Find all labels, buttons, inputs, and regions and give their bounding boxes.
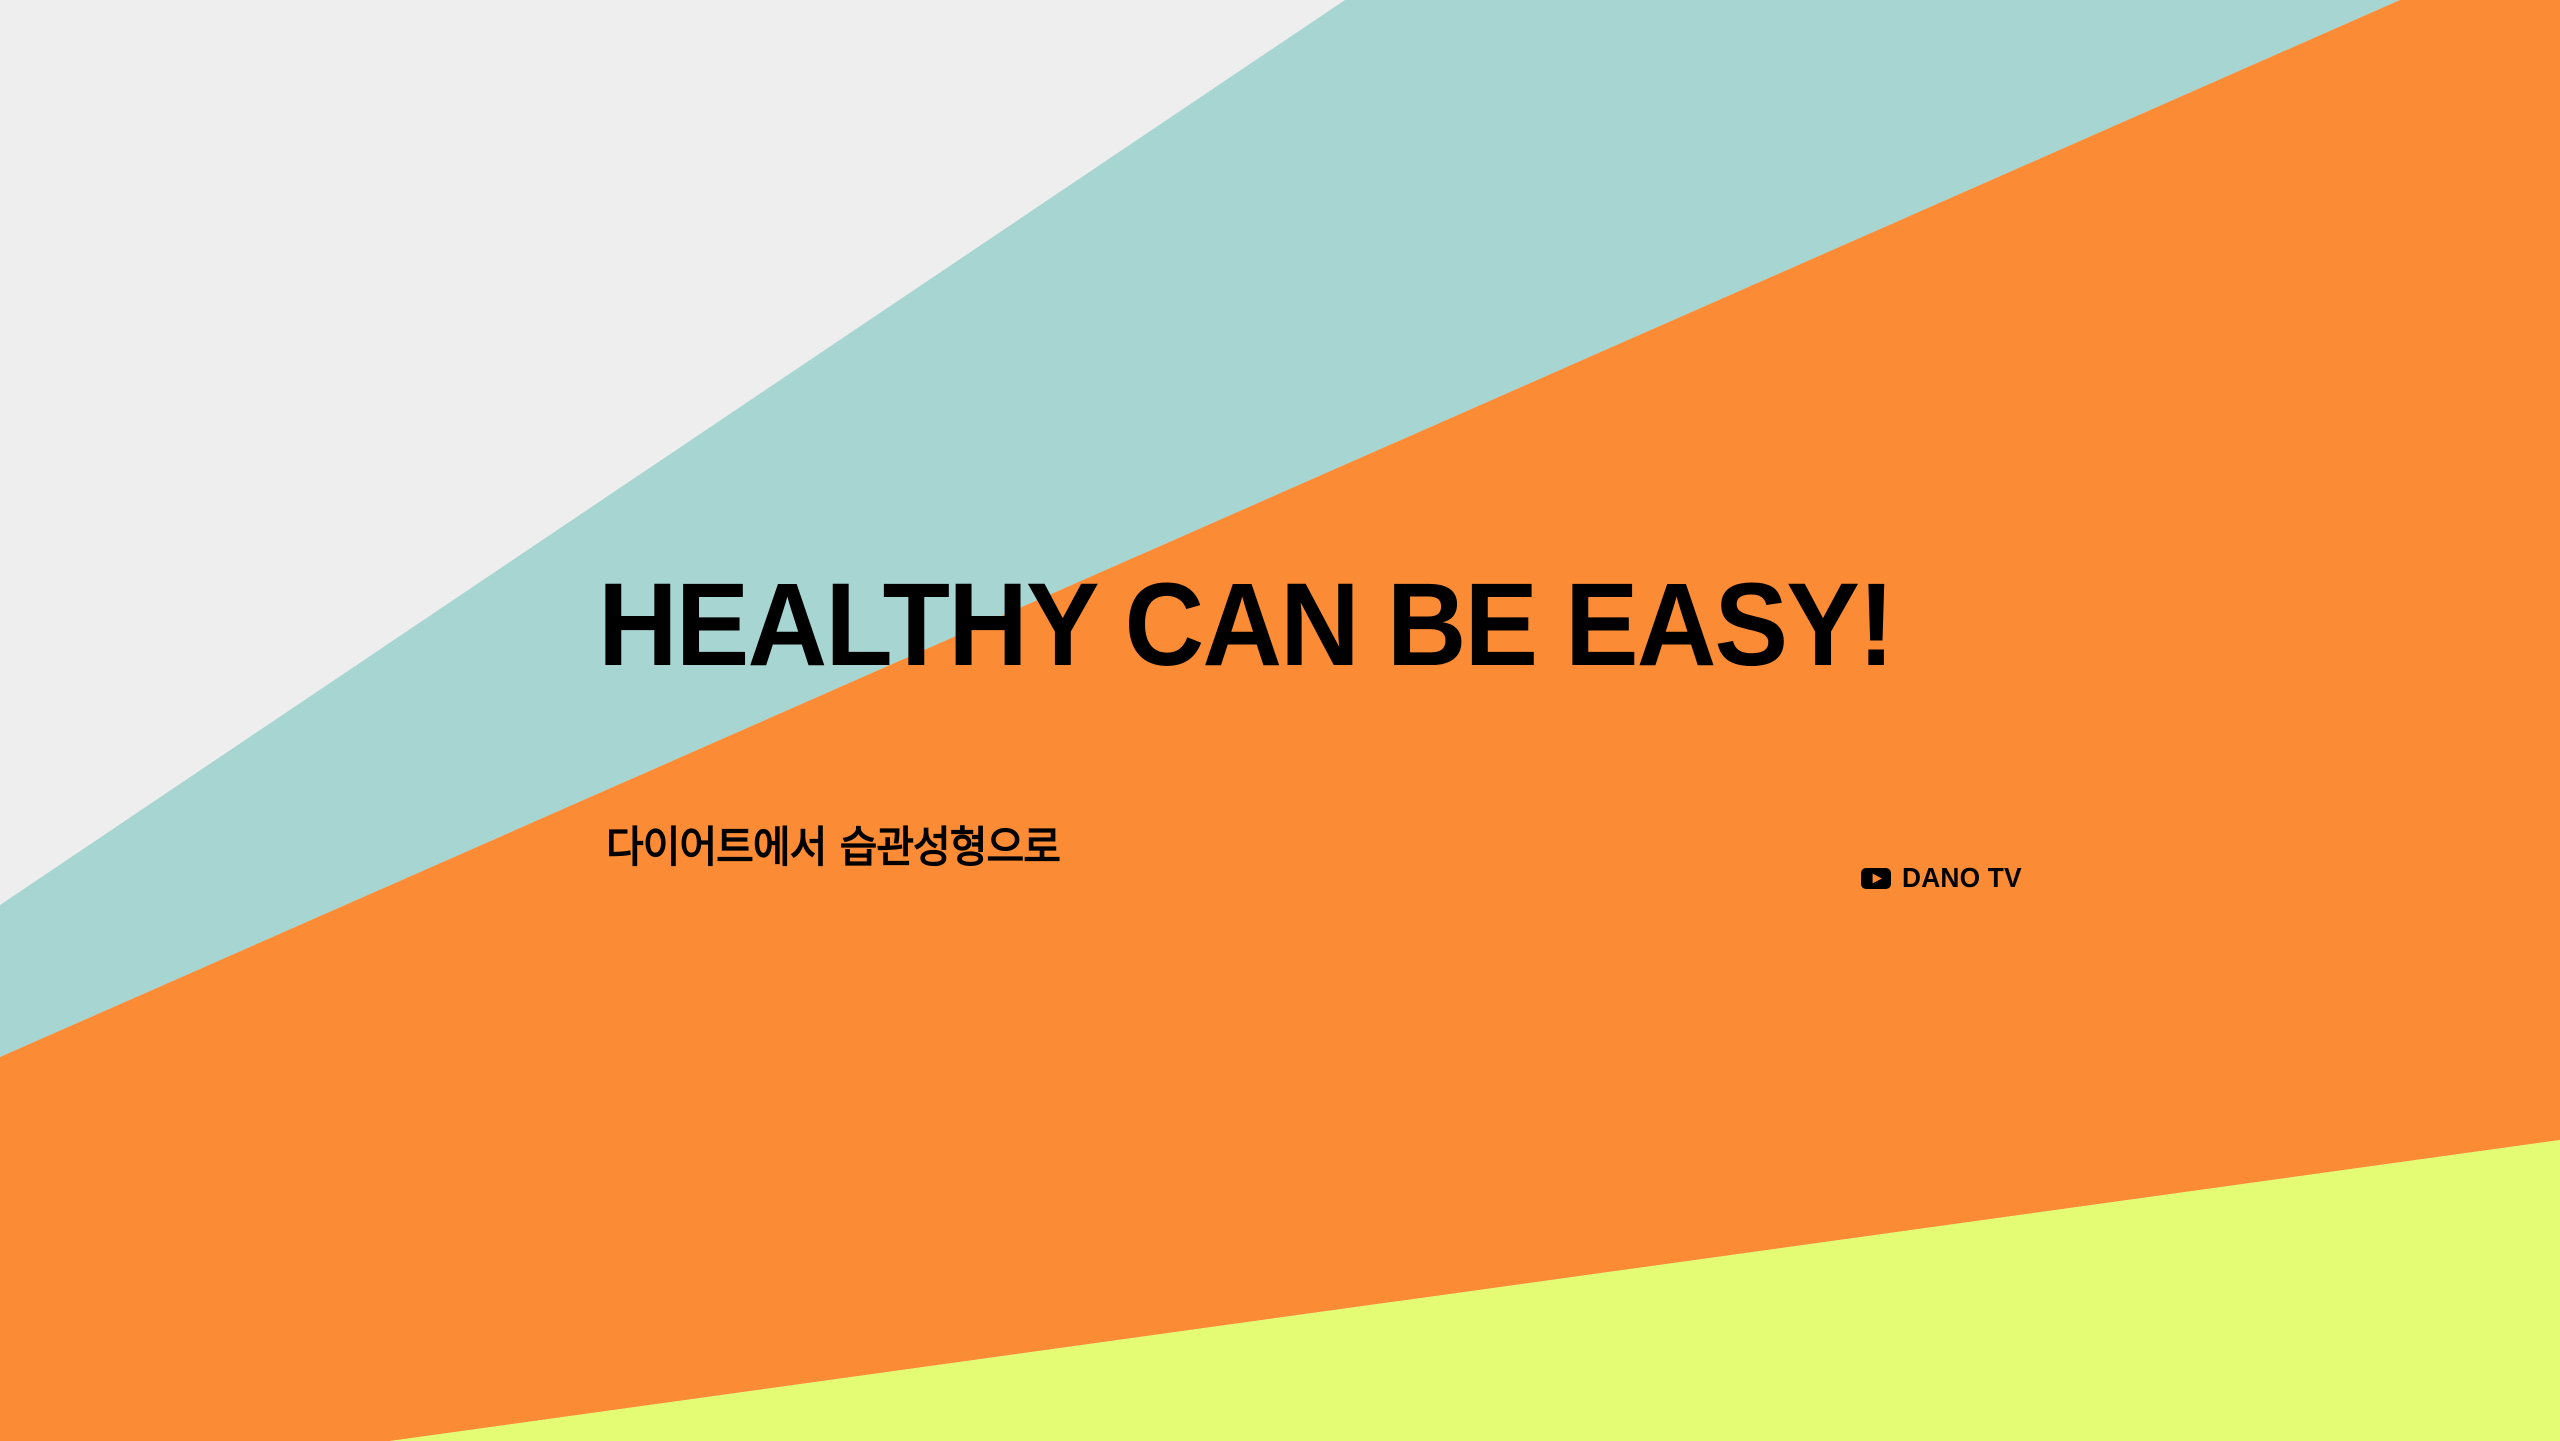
hero-headline: HEALTHY CAN BE EASY! [598, 566, 1893, 684]
channel-name-label: DANO TV [1902, 864, 2022, 892]
channel-badge[interactable]: DANO TV [1861, 864, 2029, 892]
hero-subheadline: 다이어트에서 습관성형으로 [606, 823, 1060, 873]
slide-content: HEALTHY CAN BE EASY! 다이어트에서 습관성형으로 DANO … [0, 0, 2560, 1441]
youtube-play-icon [1861, 868, 1891, 889]
slide-canvas: HEALTHY CAN BE EASY! 다이어트에서 습관성형으로 DANO … [0, 0, 2560, 1441]
